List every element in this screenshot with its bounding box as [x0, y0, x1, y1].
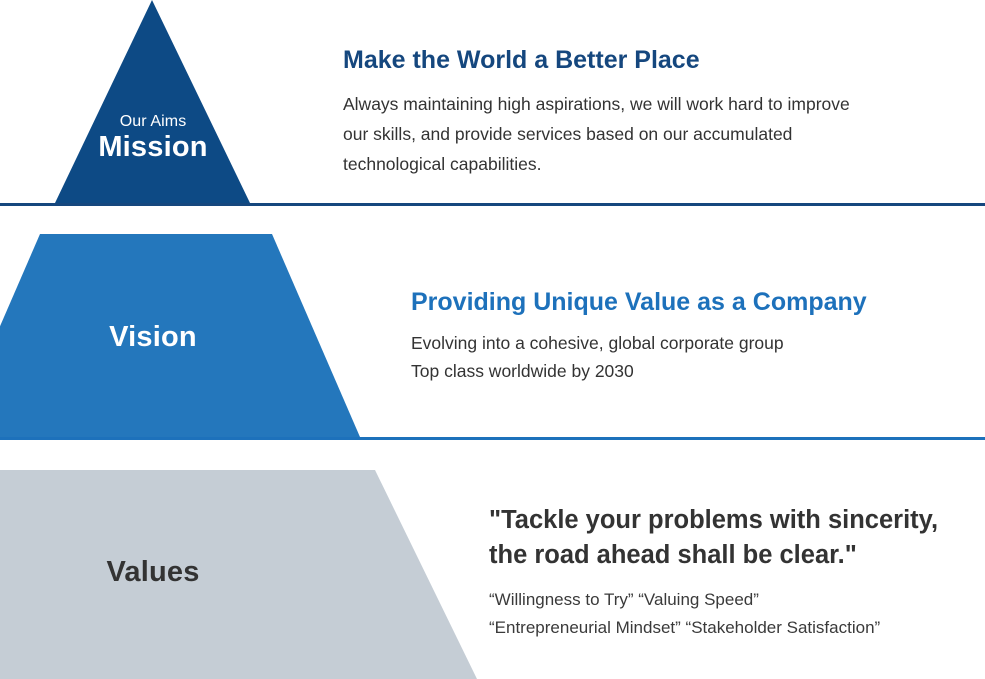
- vision-body-line: Top class worldwide by 2030: [411, 357, 985, 385]
- vision-label-text: Vision: [42, 322, 264, 353]
- vision-content: Providing Unique Value as a Company Evol…: [411, 288, 985, 385]
- values-heading-line: the road ahead shall be clear.": [489, 538, 985, 573]
- mission-shape-label: Our Aims Mission: [42, 113, 264, 164]
- mission-triangle: [55, 0, 250, 203]
- values-body: “Willingness to Try” “Valuing Speed” “En…: [489, 586, 985, 642]
- mission-content: Make the World a Better Place Always mai…: [343, 46, 983, 179]
- values-body-line: “Entrepreneurial Mindset” “Stakeholder S…: [489, 614, 985, 642]
- vision-body-line: Evolving into a cohesive, global corpora…: [411, 329, 985, 357]
- mission-body-line: our skills, and provide services based o…: [343, 119, 983, 149]
- mission-vision-values-diagram: Our Aims Mission Make the World a Better…: [0, 0, 985, 679]
- mission-divider-rule: [0, 203, 985, 206]
- values-label-text: Values: [42, 557, 264, 588]
- mission-label-text: Mission: [42, 132, 264, 163]
- mission-body: Always maintaining high aspirations, we …: [343, 89, 983, 179]
- vision-heading: Providing Unique Value as a Company: [411, 288, 985, 317]
- mission-body-line: Always maintaining high aspirations, we …: [343, 89, 983, 119]
- mission-body-line: technological capabilities.: [343, 149, 983, 179]
- values-heading-line: "Tackle your problems with sincerity,: [489, 503, 985, 538]
- mission-heading: Make the World a Better Place: [343, 46, 983, 75]
- vision-shape-label: Vision: [42, 322, 264, 353]
- values-heading: "Tackle your problems with sincerity, th…: [489, 503, 985, 573]
- vision-body: Evolving into a cohesive, global corpora…: [411, 329, 985, 385]
- values-content: "Tackle your problems with sincerity, th…: [489, 503, 985, 642]
- mission-eyebrow: Our Aims: [42, 113, 264, 130]
- values-body-line: “Willingness to Try” “Valuing Speed”: [489, 586, 985, 614]
- values-shape-label: Values: [42, 557, 264, 588]
- vision-divider-rule: [0, 437, 985, 440]
